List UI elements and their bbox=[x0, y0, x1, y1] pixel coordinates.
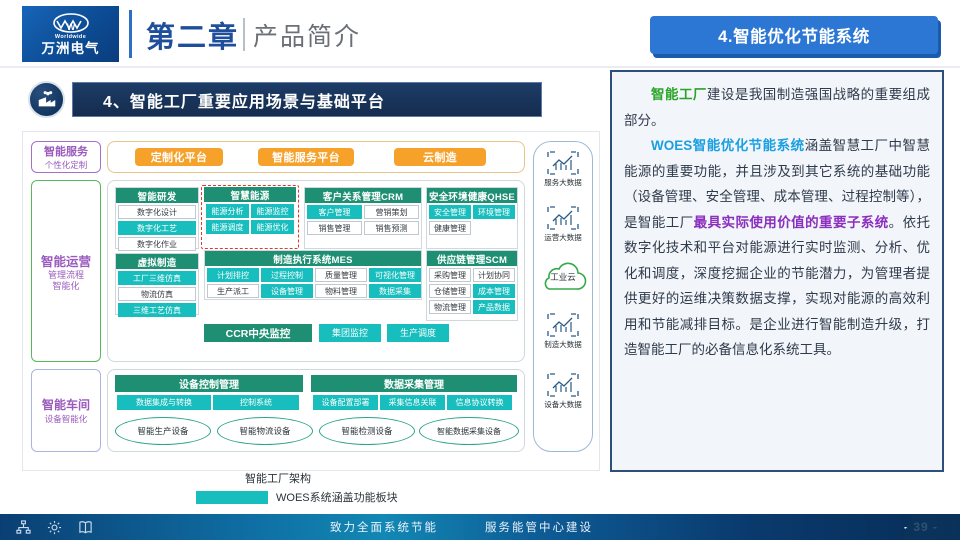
ccr-central-monitor[interactable]: CCR中央监控 bbox=[204, 324, 312, 342]
platform-button-service-label: 智能服务平台 bbox=[272, 149, 340, 165]
book-icon[interactable] bbox=[78, 520, 93, 535]
module-mes-head: 制造执行系统MES bbox=[205, 251, 421, 266]
tag-smart-service-sub: 个性化定制 bbox=[45, 159, 88, 171]
tag-smart-workshop: 智能车间 设备智能化 bbox=[31, 369, 101, 452]
equipment-logistics-label: 智能物流设备 bbox=[239, 425, 290, 437]
cell-vm-2[interactable]: 三维工艺仿真 bbox=[118, 303, 196, 317]
group-device-control: 设备控制管理 数据集成与转换 控制系统 bbox=[115, 375, 303, 412]
platform-button-custom-label: 定制化平台 bbox=[151, 149, 208, 165]
logo-company-name: 万洲电气 bbox=[42, 41, 100, 56]
page-footer: 致力全面系统节能 服务能管中心建设 - 39 - bbox=[0, 514, 960, 540]
ccr-production-schedule[interactable]: 生产调度 bbox=[387, 324, 449, 342]
legend-swatch bbox=[196, 491, 268, 504]
cell-mes-7[interactable]: 数据采集 bbox=[369, 284, 421, 298]
cell-scm-5[interactable]: 产品数据 bbox=[473, 300, 515, 314]
platform-button-custom[interactable]: 定制化平台 bbox=[135, 148, 223, 166]
chart-icon bbox=[546, 312, 580, 338]
bigdata-operation: 运营大数据 bbox=[537, 205, 589, 243]
platform-button-cloud-label: 云制造 bbox=[423, 149, 457, 165]
cell-crm-0[interactable]: 客户管理 bbox=[307, 205, 362, 219]
cell-scm-4[interactable]: 物流管理 bbox=[429, 300, 471, 314]
bigdata-operation-label: 运营大数据 bbox=[537, 232, 589, 243]
ccr-production-schedule-label: 生产调度 bbox=[400, 329, 436, 338]
equipment-inspection-label: 智能检测设备 bbox=[341, 425, 392, 437]
cell-vm-1[interactable]: 物流仿真 bbox=[118, 287, 196, 301]
tag-smart-workshop-sub: 设备智能化 bbox=[45, 413, 88, 425]
module-scm: 供应链管理SCM 采购管理 计划协同 仓储管理 成本管理 物流管理 产品数据 bbox=[426, 250, 518, 321]
cell-qhse-3 bbox=[473, 221, 515, 235]
section-chip-label: 4.智能优化节能系统 bbox=[718, 23, 870, 47]
cell-scm-0[interactable]: 采购管理 bbox=[429, 268, 471, 282]
ccr-group-monitor-label: 集团监控 bbox=[332, 329, 368, 338]
tag-smart-operation-sub: 管理流程 智能化 bbox=[48, 270, 84, 292]
bigdata-service: 服务大数据 bbox=[537, 150, 589, 188]
cell-qhse-1[interactable]: 环境管理 bbox=[473, 205, 515, 219]
chart-icon bbox=[546, 372, 580, 398]
cell-rnd-2[interactable]: 数字化作业 bbox=[118, 237, 196, 251]
cell-energy-1[interactable]: 能源监控 bbox=[251, 204, 294, 218]
description-paragraph-1: 智能工厂建设是我国制造强国战略的重要组成部分。 bbox=[624, 82, 930, 133]
sitemap-icon[interactable] bbox=[16, 520, 31, 535]
module-smart-energy-head: 智慧能源 bbox=[204, 187, 296, 202]
module-virtual-mfg: 虚拟制造 工厂三维仿真 物流仿真 三维工艺仿真 bbox=[115, 253, 199, 315]
cell-scm-3[interactable]: 成本管理 bbox=[473, 284, 515, 298]
cell-scm-1[interactable]: 计划协同 bbox=[473, 268, 515, 282]
cell-mes-0[interactable]: 计划排控 bbox=[207, 268, 259, 282]
cell-mes-5[interactable]: 设备管理 bbox=[261, 284, 313, 298]
description-paragraph-2: WOES智能优化节能系统涵盖智慧工厂中智慧能源的重要功能，并且涉及到其它系统的基… bbox=[624, 133, 930, 363]
cell-crm-3[interactable]: 销售预测 bbox=[364, 221, 419, 235]
module-virtual-mfg-head: 虚拟制造 bbox=[116, 254, 198, 269]
chapter-separator bbox=[243, 18, 245, 51]
cell-crm-2[interactable]: 销售管理 bbox=[307, 221, 362, 235]
cell-rnd-1[interactable]: 数字化工艺 bbox=[118, 221, 196, 235]
bigdata-service-label: 服务大数据 bbox=[537, 177, 589, 188]
bigdata-equipment-label: 设备大数据 bbox=[537, 399, 589, 410]
module-rnd-head: 智能研发 bbox=[116, 188, 198, 203]
cell-mes-6[interactable]: 物料管理 bbox=[315, 284, 367, 298]
module-scm-head: 供应链管理SCM bbox=[427, 251, 517, 266]
cell-mes-1[interactable]: 过程控制 bbox=[261, 268, 313, 282]
bigdata-manufacturing: 制造大数据 bbox=[537, 312, 589, 350]
platform-button-cloud[interactable]: 云制造 bbox=[394, 148, 486, 166]
cell-da-0[interactable]: 设备配置部署 bbox=[313, 395, 378, 410]
smart-factory-architecture-diagram: 智能服务 个性化定制 智能运营 管理流程 智能化 智能车间 设备智能化 定制化平… bbox=[22, 131, 600, 471]
diagram-caption: 智能工厂架构 bbox=[245, 470, 311, 486]
cell-scm-2[interactable]: 仓储管理 bbox=[429, 284, 471, 298]
cell-rnd-0[interactable]: 数字化设计 bbox=[118, 205, 196, 219]
industrial-cloud-label: 工业云 bbox=[535, 271, 591, 283]
group-data-acquisition-head: 数据采集管理 bbox=[311, 375, 517, 392]
module-smart-energy: 智慧能源 能源分析 能源监控 能源调度 能源优化 bbox=[204, 187, 296, 247]
cell-energy-3[interactable]: 能源优化 bbox=[251, 220, 294, 234]
module-crm: 客户关系管理CRM 客户管理 营销策划 销售管理 销售预测 bbox=[304, 187, 422, 249]
slide-title: 4、智能工厂重要应用场景与基础平台 bbox=[103, 88, 385, 112]
chapter-subtitle: 产品简介 bbox=[253, 17, 361, 53]
logo-divider bbox=[129, 10, 132, 58]
cell-da-2[interactable]: 信息协议转换 bbox=[447, 395, 512, 410]
description-body: 智能工厂建设是我国制造强国战略的重要组成部分。 WOES智能优化节能系统涵盖智慧… bbox=[612, 72, 942, 363]
logo-emblem-icon: W bbox=[51, 12, 91, 33]
tag-smart-operation: 智能运营 管理流程 智能化 bbox=[31, 180, 101, 362]
ccr-group-monitor[interactable]: 集团监控 bbox=[319, 324, 381, 342]
svg-text:W: W bbox=[66, 22, 75, 32]
cell-dc-0[interactable]: 数据集成与转换 bbox=[117, 395, 211, 410]
page-header: W Worldwide 万洲电气 第二章 产品简介 4.智能优化节能系统 bbox=[0, 0, 960, 68]
factory-icon bbox=[28, 81, 65, 118]
module-rnd: 智能研发 数字化设计 数字化工艺 数字化作业 bbox=[115, 187, 199, 249]
group-device-control-head: 设备控制管理 bbox=[115, 375, 303, 392]
cell-da-1[interactable]: 采集信息关联 bbox=[380, 395, 445, 410]
cell-qhse-0[interactable]: 安全管理 bbox=[429, 205, 471, 219]
cell-energy-2[interactable]: 能源调度 bbox=[206, 220, 249, 234]
equipment-production-label: 智能生产设备 bbox=[137, 425, 188, 437]
highlight-smart-factory: 智能工厂 bbox=[651, 87, 707, 102]
tag-smart-workshop-main: 智能车间 bbox=[42, 396, 90, 413]
industrial-cloud: 工业云 bbox=[535, 260, 587, 294]
footer-accent bbox=[840, 514, 960, 540]
section-chip[interactable]: 4.智能优化节能系统 bbox=[650, 16, 938, 54]
ccr-central-monitor-label: CCR中央监控 bbox=[226, 326, 291, 341]
cell-mes-4[interactable]: 生产派工 bbox=[207, 284, 259, 298]
cell-mes-2[interactable]: 质量管理 bbox=[315, 268, 367, 282]
cell-dc-1[interactable]: 控制系统 bbox=[213, 395, 299, 410]
cell-vm-0[interactable]: 工厂三维仿真 bbox=[118, 271, 196, 285]
description-panel: 智能工厂建设是我国制造强国战略的重要组成部分。 WOES智能优化节能系统涵盖智慧… bbox=[610, 70, 944, 472]
module-qhse: 安全环境健康QHSE 安全管理 环境管理 健康管理 bbox=[426, 187, 518, 249]
header-divider bbox=[0, 66, 960, 68]
cell-qhse-2[interactable]: 健康管理 bbox=[429, 221, 471, 235]
platform-row: 定制化平台 智能服务平台 云制造 bbox=[107, 141, 525, 173]
platform-button-service[interactable]: 智能服务平台 bbox=[258, 148, 354, 166]
equipment-logistics[interactable]: 智能物流设备 bbox=[217, 417, 313, 445]
chart-icon bbox=[546, 205, 580, 231]
cell-energy-0[interactable]: 能源分析 bbox=[206, 204, 249, 218]
footer-slogan-1: 致力全面系统节能 bbox=[330, 519, 438, 535]
highlight-most-valuable: 最具实际使用价值的重要子系统 bbox=[694, 215, 889, 230]
cell-crm-1[interactable]: 营销策划 bbox=[364, 205, 419, 219]
bigdata-equipment: 设备大数据 bbox=[537, 372, 589, 410]
equipment-production[interactable]: 智能生产设备 bbox=[115, 417, 211, 445]
company-logo: W Worldwide 万洲电气 bbox=[22, 6, 119, 62]
equipment-data-collection-label: 智能数据采集设备 bbox=[437, 426, 501, 437]
group-data-acquisition: 数据采集管理 设备配置部署 采集信息关联 信息协议转换 bbox=[311, 375, 517, 412]
module-qhse-head: 安全环境健康QHSE bbox=[427, 188, 517, 203]
tag-smart-service: 智能服务 个性化定制 bbox=[31, 141, 101, 173]
description-p2-post: 。依托数字化技术和平台对能源进行实时监测、分析、优化和调度，深度挖掘企业的节能潜… bbox=[624, 215, 930, 358]
logo-subtitle: Worldwide bbox=[55, 34, 86, 40]
chapter-title: 第二章 bbox=[146, 14, 239, 56]
module-crm-head: 客户关系管理CRM bbox=[305, 188, 421, 203]
footer-slogan-2: 服务能管中心建设 bbox=[485, 519, 593, 535]
bigdata-manufacturing-label: 制造大数据 bbox=[537, 339, 589, 350]
tag-smart-operation-main: 智能运营 bbox=[41, 251, 91, 270]
gear-icon[interactable] bbox=[47, 520, 62, 535]
module-mes: 制造执行系统MES 计划排控 过程控制 质量管理 可视化管理 生产派工 设备管理… bbox=[204, 250, 422, 300]
chart-icon bbox=[546, 150, 580, 176]
cell-mes-3[interactable]: 可视化管理 bbox=[369, 268, 421, 282]
equipment-inspection[interactable]: 智能检测设备 bbox=[319, 417, 415, 445]
legend-label: WOES系统涵盖功能板块 bbox=[276, 489, 398, 505]
slide-title-band: 4、智能工厂重要应用场景与基础平台 bbox=[72, 82, 542, 117]
tag-smart-service-main: 智能服务 bbox=[44, 143, 88, 159]
highlight-woes: WOES智能优化节能系统 bbox=[651, 138, 805, 153]
equipment-data-collection[interactable]: 智能数据采集设备 bbox=[419, 417, 519, 445]
